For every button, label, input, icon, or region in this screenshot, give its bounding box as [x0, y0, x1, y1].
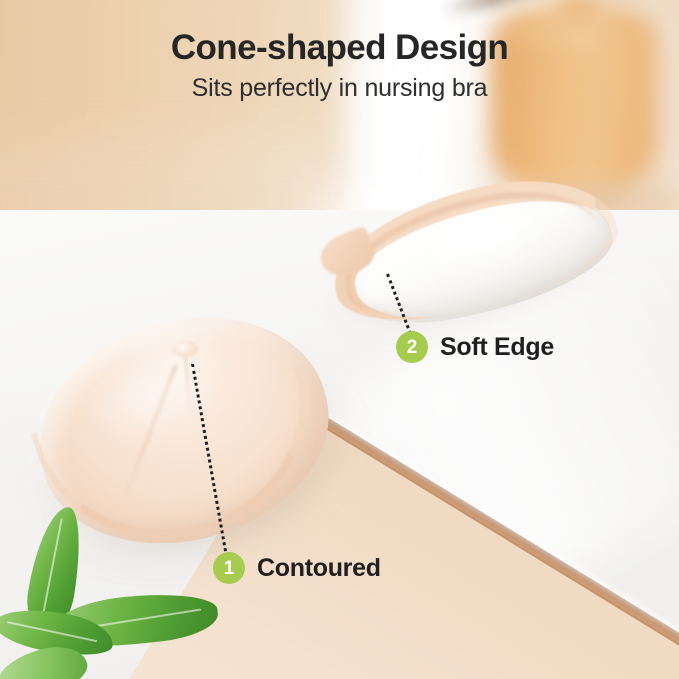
callout-label-soft-edge: Soft Edge	[440, 333, 554, 362]
badge-number-1: 1	[213, 552, 245, 584]
product-feature-image: 1 Contoured 2 Soft Edge Cone-shaped Desi…	[0, 0, 679, 679]
callout-label-contoured: Contoured	[257, 554, 381, 583]
page-title: Cone-shaped Design	[0, 28, 679, 68]
leaf-vein	[42, 518, 63, 617]
badge-number-2: 2	[396, 331, 428, 363]
page-subtitle: Sits perfectly in nursing bra	[0, 74, 679, 103]
callout-contoured: 1 Contoured	[213, 552, 381, 584]
plant-leaves	[0, 500, 216, 679]
leaf-vein	[7, 621, 97, 642]
callout-soft-edge: 2 Soft Edge	[396, 331, 554, 363]
heading-block: Cone-shaped Design Sits perfectly in nur…	[0, 28, 679, 103]
